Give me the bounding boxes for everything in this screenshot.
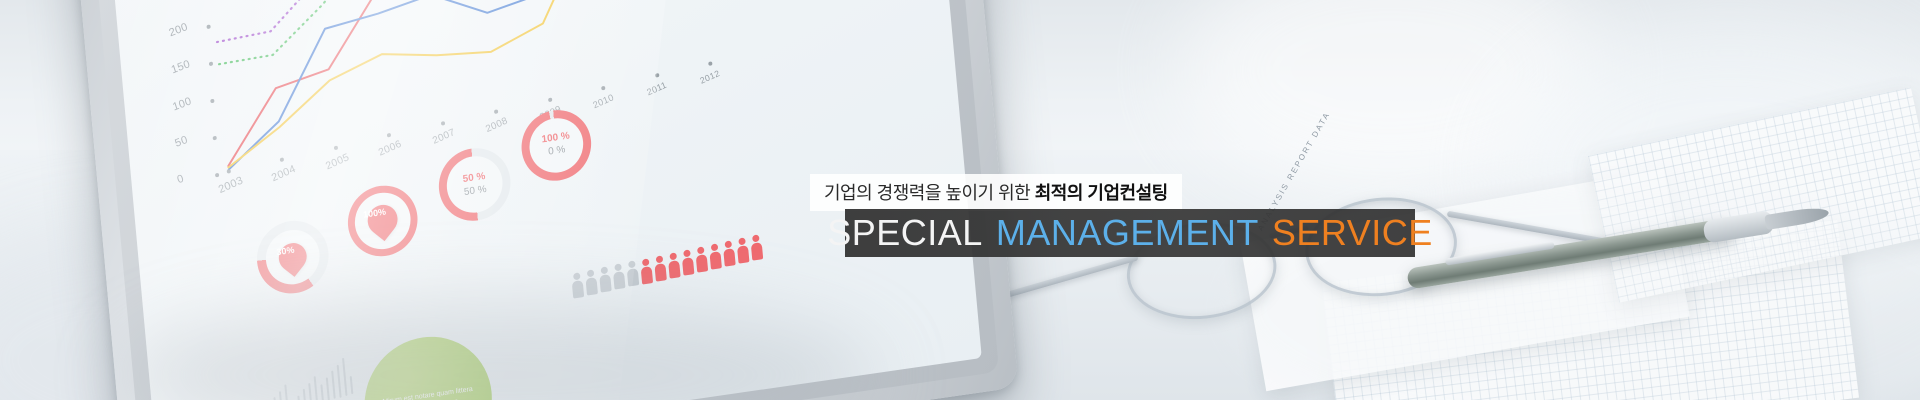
chart-x-tick-dot xyxy=(601,85,605,90)
person-body xyxy=(586,277,598,296)
line-chart-svg xyxy=(151,0,728,204)
person-head xyxy=(587,269,595,277)
pictogram-person-highlighted xyxy=(681,249,694,276)
pictogram-person-highlighted xyxy=(640,258,653,285)
line-chart: 050100150200250300 200320042005200620072… xyxy=(151,0,728,204)
person-body xyxy=(613,271,625,290)
chart-series-purple-dotted-line xyxy=(209,0,702,42)
person-body xyxy=(627,268,639,287)
person-head xyxy=(738,238,746,246)
person-body xyxy=(737,245,749,264)
gauge-drop-center: 100% xyxy=(345,181,421,261)
pictogram-person-highlighted xyxy=(723,240,736,267)
pictogram-person-highlighted xyxy=(736,237,749,264)
gauge-percent-label: 30% xyxy=(271,245,300,258)
person-head xyxy=(573,272,581,280)
person-body xyxy=(682,257,694,276)
chart-series-red-line xyxy=(211,0,713,166)
chart-x-tick-dot xyxy=(334,145,338,150)
person-head xyxy=(601,267,609,275)
person-head xyxy=(752,235,760,243)
glasses-bridge xyxy=(1269,225,1309,238)
gauge-small-left: 30% xyxy=(254,216,332,298)
gauge-percent-label: 100% xyxy=(359,207,390,220)
person-body xyxy=(572,280,584,299)
pictogram-person-highlighted xyxy=(709,243,722,270)
person-head xyxy=(628,261,636,269)
people-pictogram xyxy=(569,221,812,315)
person-body xyxy=(709,251,721,270)
pictogram-person xyxy=(585,269,598,296)
person-head xyxy=(614,264,622,272)
pictogram-person-highlighted xyxy=(667,252,680,279)
person-body xyxy=(599,274,611,293)
person-body xyxy=(668,260,680,279)
banner-stage: ANALYSIS REPORT DATA 050100150200250300 … xyxy=(0,0,1920,400)
pictogram-person-highlighted xyxy=(750,234,763,261)
person-body xyxy=(723,248,735,267)
person-head xyxy=(711,243,719,251)
person-head xyxy=(725,241,733,249)
pictogram-person-highlighted xyxy=(654,255,667,282)
chart-y-tick-dot xyxy=(208,62,212,67)
person-body xyxy=(696,254,708,273)
chart-series-yellow-line xyxy=(209,0,714,167)
person-body xyxy=(751,242,763,261)
person-head xyxy=(697,246,705,254)
person-body xyxy=(641,266,653,285)
pictogram-person xyxy=(599,266,612,293)
person-body xyxy=(654,263,666,282)
pictogram-person xyxy=(571,272,584,299)
glasses-lens-left xyxy=(1122,215,1281,326)
pictogram-person-highlighted xyxy=(695,246,708,273)
person-head xyxy=(669,252,677,260)
chart-x-tick-dot xyxy=(548,97,552,102)
person-head xyxy=(642,258,650,266)
pictogram-person xyxy=(612,263,625,290)
pictogram-person xyxy=(626,260,639,287)
person-head xyxy=(683,249,691,257)
person-head xyxy=(656,255,664,263)
pen-tip xyxy=(1764,205,1830,230)
